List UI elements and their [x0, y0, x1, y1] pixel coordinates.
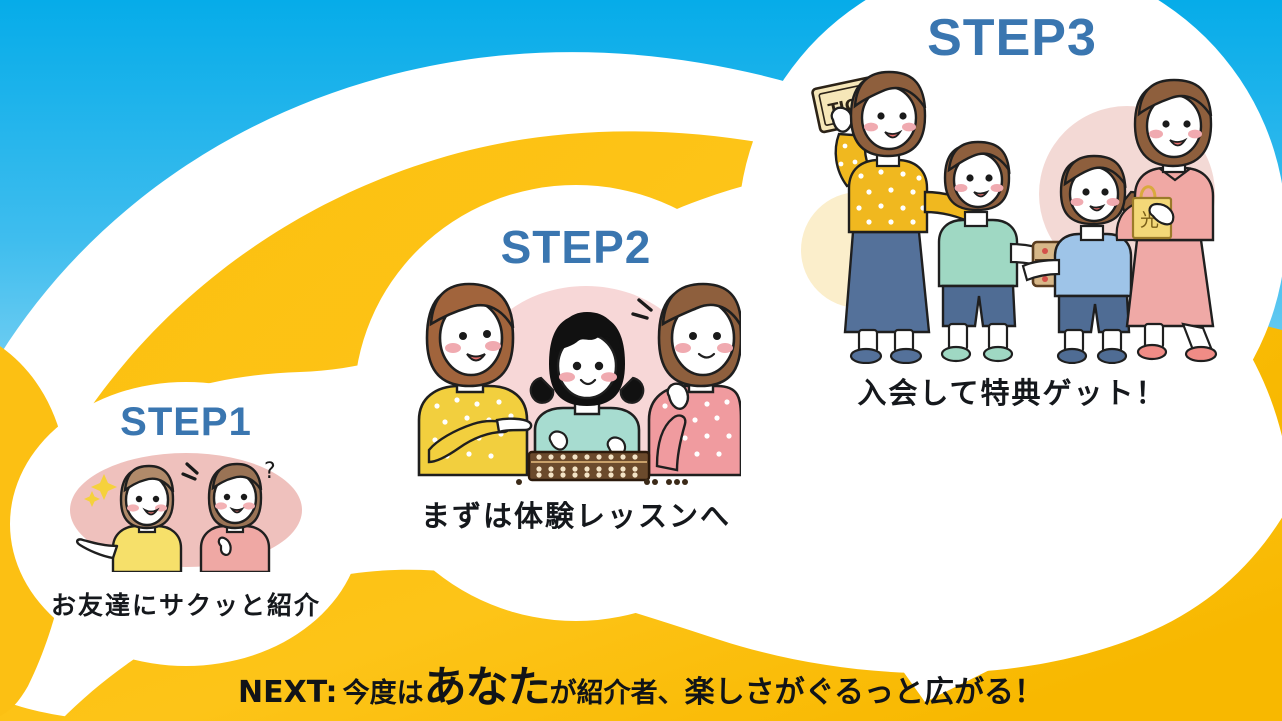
shoes: [851, 349, 921, 363]
neck: [1081, 226, 1103, 240]
cheek: [717, 343, 733, 353]
shoes: [1058, 349, 1126, 363]
cheek: [1188, 130, 1202, 139]
eye: [483, 330, 491, 338]
eye: [877, 112, 884, 119]
step1-caption: お友達にサクッと紹介: [51, 586, 321, 622]
eye: [899, 112, 906, 119]
step1-illustration-two-women-talking: ?: [61, 442, 311, 572]
step2-caption: まずは体験レッスンへ: [421, 493, 731, 535]
step-card-2: STEP2: [358, 188, 794, 618]
skirt: [845, 232, 929, 332]
next-tail: 楽しさがぐるっと広がる！: [685, 675, 1044, 710]
body: [1055, 234, 1131, 296]
hand: [219, 538, 231, 555]
step2-label: STEP2: [501, 224, 652, 270]
step3-illustration-enrollment: TICKET: [797, 64, 1227, 364]
eye: [459, 332, 467, 340]
cheek: [902, 123, 916, 132]
cheek: [445, 343, 461, 353]
cheek: [559, 372, 575, 382]
pointing-hand: [497, 419, 531, 432]
eye: [689, 332, 697, 340]
step1-label: STEP1: [120, 402, 252, 442]
eye: [136, 496, 142, 502]
eye: [1082, 188, 1089, 195]
next-middle: が紹介者、: [550, 678, 685, 709]
eye: [573, 362, 581, 370]
eye: [966, 174, 973, 181]
body: [939, 220, 1017, 286]
poster-canvas: STEP1 ?: [0, 0, 1282, 721]
next-prefix: NEXT:: [238, 675, 338, 710]
cheek: [215, 502, 227, 509]
cheek: [243, 502, 255, 509]
eye: [985, 174, 992, 181]
eye: [713, 332, 721, 340]
skirt: [1127, 240, 1213, 326]
eye: [595, 362, 603, 370]
cheek: [127, 504, 139, 511]
cheek: [1107, 198, 1120, 206]
step2-illustration-trial-lesson: [411, 270, 741, 485]
step3-caption: 入会して特典ゲット！: [857, 370, 1166, 412]
cheek: [955, 184, 968, 192]
cheek: [1149, 130, 1163, 139]
cheek: [601, 372, 617, 382]
shoes: [942, 347, 1012, 361]
cheek: [864, 123, 878, 132]
eye: [241, 494, 247, 500]
shorts: [1059, 296, 1129, 332]
abacus-object: [529, 452, 649, 480]
next-emphasis: あなた: [424, 663, 550, 713]
mouth: [232, 509, 242, 513]
cheek: [675, 343, 691, 353]
eye: [1162, 120, 1169, 127]
eye: [224, 494, 230, 500]
eye: [153, 496, 159, 502]
cheek: [991, 184, 1004, 192]
step3-label: STEP3: [927, 12, 1097, 64]
eye: [1183, 120, 1190, 127]
shoes: [1138, 345, 1216, 361]
shorts: [943, 286, 1015, 326]
next-lead: 今度は: [343, 678, 424, 709]
question-mark-icon: ?: [264, 459, 276, 484]
cheek: [485, 341, 501, 351]
eye: [1101, 188, 1108, 195]
step-card-1: STEP1 ?: [14, 384, 358, 664]
next-banner: NEXT: 今度はあなたが紹介者、楽しさがぐるっと広がる！: [0, 653, 1282, 715]
cheek: [1071, 198, 1084, 206]
neck: [965, 212, 987, 226]
